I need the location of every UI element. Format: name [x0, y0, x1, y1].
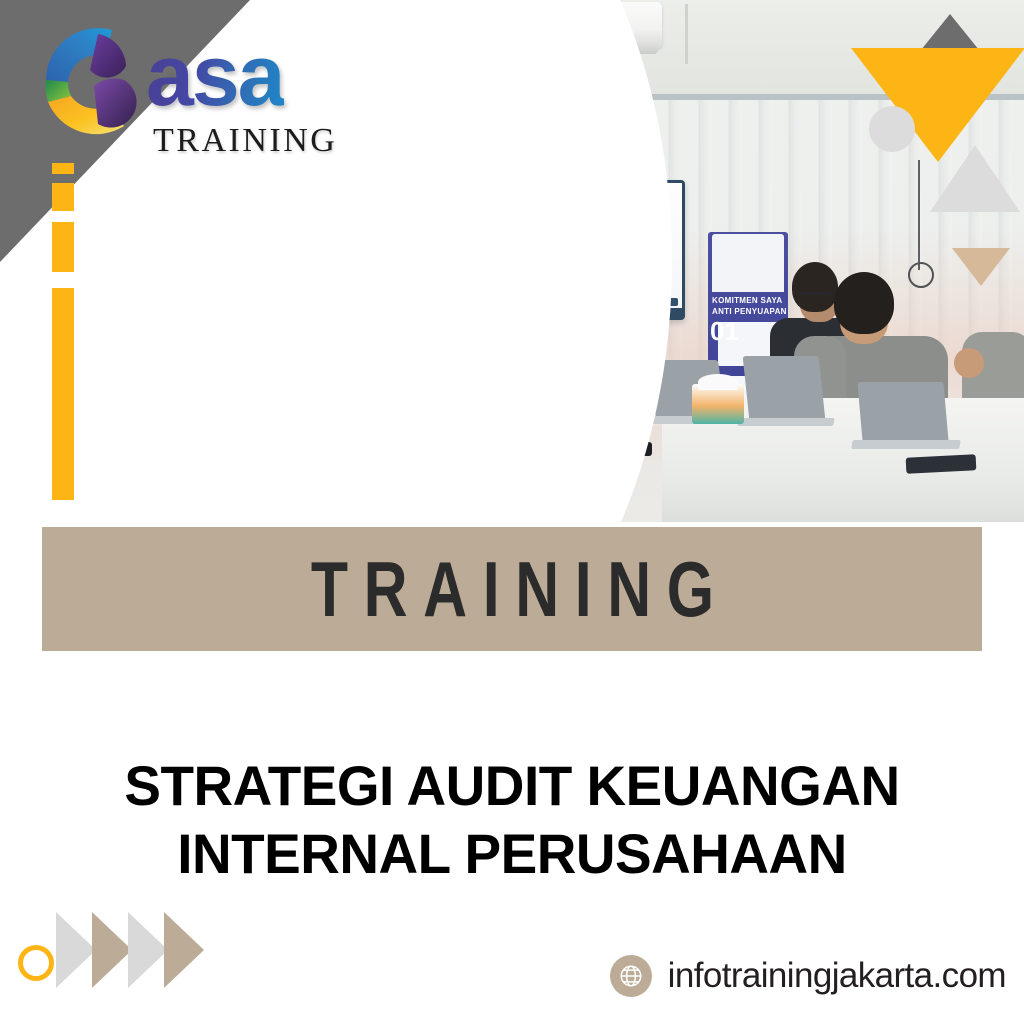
circle-outline-icon [908, 262, 934, 288]
chevron-group [18, 912, 218, 1004]
circle-icon [869, 106, 915, 152]
chevron-right-icon [56, 912, 96, 988]
photo-circle-mask [322, 0, 672, 522]
logo-tagline: TRAINING [153, 122, 337, 160]
circle-outline-icon [18, 945, 54, 981]
participant-glasses [798, 292, 832, 305]
poster-canvas: KOMITMEN SAYA ANTI PENYUAPAN 01 02 [0, 0, 1024, 1024]
participant-hand [954, 348, 984, 378]
tissue-box-icon [692, 384, 744, 424]
laptop-base [851, 440, 961, 449]
participant-head [834, 272, 894, 334]
standing-banner-header [712, 234, 784, 292]
dashed-line-icon [52, 288, 74, 500]
title-line-2: INTERNAL PERUSAHAAN [10, 820, 1014, 888]
wall-pipe [685, 4, 688, 64]
hanging-pin-icon [918, 160, 920, 270]
laptop-base [737, 418, 835, 426]
training-banner-label: TRAINING [295, 544, 729, 635]
tissue-sheet [698, 374, 738, 390]
dashed-line-icon [52, 222, 74, 272]
dashed-line-icon [52, 163, 74, 174]
globe-icon [610, 955, 652, 997]
standing-banner-line2: ANTI PENYUAPAN [712, 307, 787, 316]
laptop-icon [743, 356, 826, 420]
website-footer[interactable]: infotrainingjakarta.com [610, 954, 1006, 998]
dashed-line-icon [52, 183, 74, 211]
chevron-right-icon [164, 912, 204, 988]
website-url: infotrainingjakarta.com [668, 956, 1006, 996]
title-line-1: STRATEGI AUDIT KEUANGAN [10, 752, 1014, 820]
triangle-down-icon [952, 248, 1010, 286]
page-title: STRATEGI AUDIT KEUANGAN INTERNAL PERUSAH… [0, 752, 1024, 889]
chevron-right-icon [92, 912, 132, 988]
training-banner: TRAINING [42, 527, 982, 651]
standing-banner-line1: KOMITMEN SAYA [712, 296, 782, 305]
brand-logo[interactable]: asa TRAINING [28, 14, 338, 164]
logo-wordmark: asa [146, 36, 284, 118]
standing-banner-number-1: 01 [710, 316, 739, 347]
chevron-right-icon [128, 912, 168, 988]
triangle-up-icon [930, 145, 1020, 212]
laptop-icon [857, 382, 948, 442]
